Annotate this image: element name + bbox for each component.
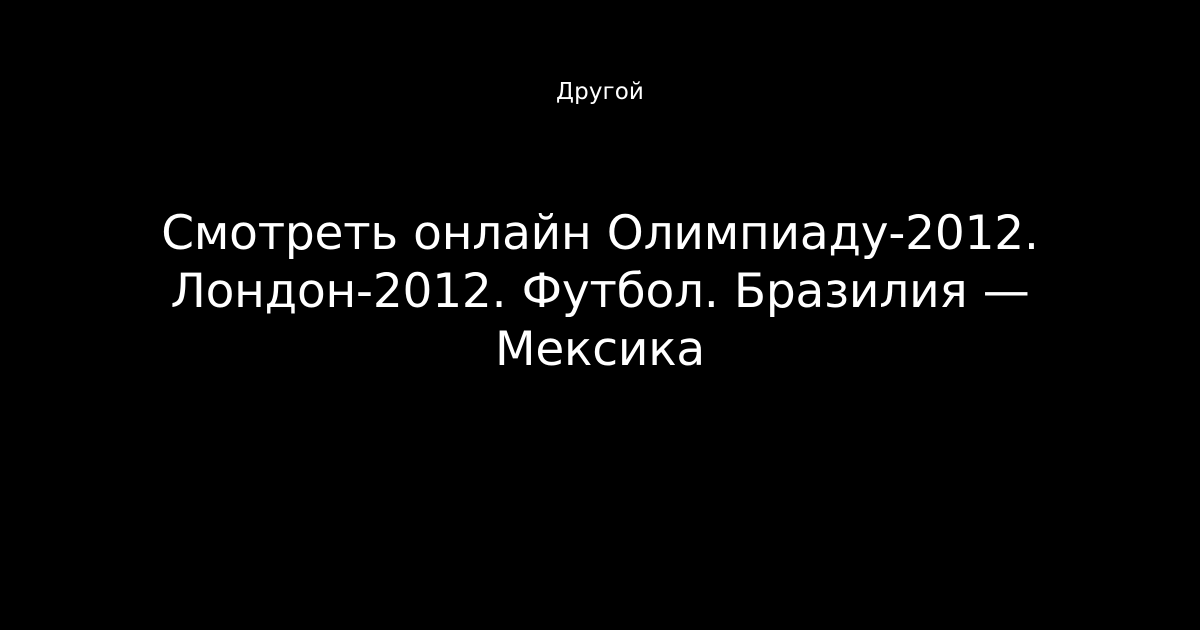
headline-row: Смотреть онлайн Олимпиаду-2012. Лондон-2… (135, 205, 1065, 379)
card-content: Другой Смотреть онлайн Олимпиаду-2012. Л… (0, 0, 1200, 630)
category-row: Другой (0, 78, 1200, 106)
category-label: Другой (556, 78, 644, 106)
social-share-card: Другой Смотреть онлайн Олимпиаду-2012. Л… (0, 0, 1200, 630)
page-title: Смотреть онлайн Олимпиаду-2012. Лондон-2… (135, 205, 1065, 379)
